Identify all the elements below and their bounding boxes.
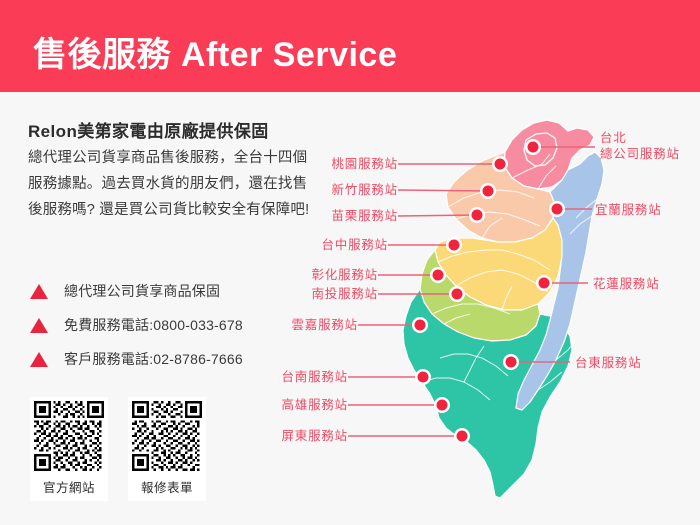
station-marker-taichung[interactable] bbox=[446, 237, 462, 253]
triangle-bullet-icon bbox=[30, 284, 48, 299]
station-label-kaohsiung: 高雄服務站 bbox=[281, 397, 348, 413]
list-item-label: 客戶服務電話:02-8786-7666 bbox=[64, 349, 243, 369]
station-label-pingtung: 屏東服務站 bbox=[281, 428, 348, 444]
station-marker-kaohsiung[interactable] bbox=[434, 397, 450, 413]
qr-card-label: 報修表單 bbox=[132, 471, 202, 499]
map-regions bbox=[403, 120, 604, 498]
list-item-label: 總代理公司貨享商品保固 bbox=[64, 281, 220, 301]
station-label-miaoli: 苗栗服務站 bbox=[331, 208, 398, 224]
station-marker-hualien[interactable] bbox=[536, 275, 552, 291]
station-label-hsinchu: 新竹服務站 bbox=[331, 182, 398, 198]
station-marker-miaoli[interactable] bbox=[469, 207, 485, 223]
triangle-bullet-icon bbox=[30, 318, 48, 333]
station-label-nantou: 南投服務站 bbox=[311, 286, 378, 302]
station-marker-taoyuan[interactable] bbox=[492, 156, 508, 172]
station-marker-taipei[interactable] bbox=[525, 139, 541, 155]
station-label-taitung: 台東服務站 bbox=[575, 355, 642, 371]
station-label-taichung: 台中服務站 bbox=[321, 237, 388, 253]
station-marker-changhua[interactable] bbox=[430, 267, 446, 283]
list-item-label: 免費服務電話:0800-033-678 bbox=[64, 315, 243, 335]
qr-card-repair-form[interactable]: 報修表單 bbox=[128, 397, 206, 501]
station-marker-taitung[interactable] bbox=[503, 354, 519, 370]
qr-code-icon bbox=[34, 401, 104, 471]
qr-code-group: 官方網站 bbox=[30, 397, 206, 501]
station-marker-nantou[interactable] bbox=[449, 286, 465, 302]
header-bar: 售後服務 After Service bbox=[0, 0, 700, 92]
station-marker-pingtung[interactable] bbox=[454, 428, 470, 444]
station-label-changhua: 彰化服務站 bbox=[311, 267, 378, 283]
station-label-tainan: 台南服務站 bbox=[281, 369, 348, 385]
station-label-hualien: 花蓮服務站 bbox=[593, 276, 660, 292]
after-service-infographic: 售後服務 After Service Relon美第家電由原廠提供保固 總代理公… bbox=[0, 0, 700, 525]
station-label-yunchia: 雲嘉服務站 bbox=[291, 317, 358, 333]
station-marker-yunchia[interactable] bbox=[412, 317, 428, 333]
station-marker-hsinchu[interactable] bbox=[480, 183, 496, 199]
station-label-yilan: 宜蘭服務站 bbox=[595, 202, 662, 218]
station-label-taoyuan: 桃園服務站 bbox=[331, 156, 398, 172]
page-title: 售後服務 After Service bbox=[33, 27, 397, 76]
taiwan-service-map: 桃園服務站 新竹服務站 苗栗服務站 台中服務站 彰化服務站 南投服務站 雲嘉服務… bbox=[250, 92, 700, 525]
lead-title: Relon美第家電由原廠提供保固 bbox=[28, 117, 269, 142]
qr-card-label: 官方網站 bbox=[34, 471, 104, 499]
station-marker-tainan[interactable] bbox=[415, 369, 431, 385]
station-label-taipei: 台北 總公司服務站 bbox=[600, 130, 680, 162]
station-marker-yilan[interactable] bbox=[549, 201, 565, 217]
triangle-bullet-icon bbox=[30, 352, 48, 367]
qr-code-icon bbox=[132, 401, 202, 471]
qr-card-official-website[interactable]: 官方網站 bbox=[30, 397, 108, 501]
